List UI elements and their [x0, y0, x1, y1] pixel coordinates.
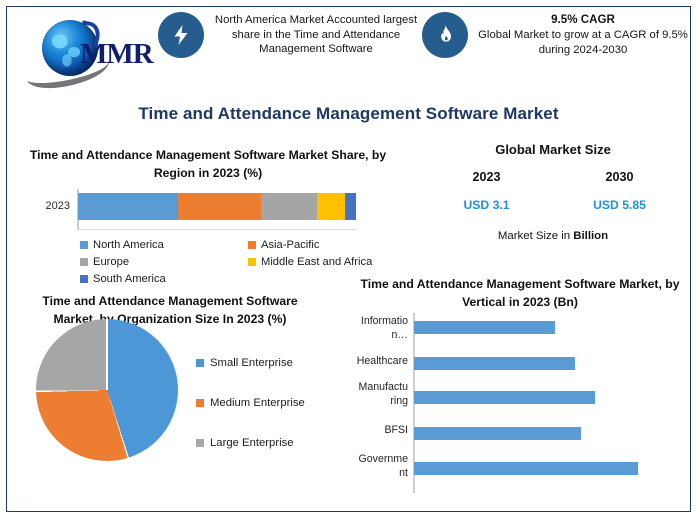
region-segment-middle-east-africa	[317, 193, 345, 220]
legend-swatch	[248, 258, 256, 266]
legend-label: Medium Enterprise	[210, 397, 305, 409]
value-2030: USD 5.85	[553, 198, 686, 212]
organization-size-chart: Time and Attendance Management Software …	[14, 292, 344, 489]
vertical-chart-plot: Informatio n… Healthcare Manufactu ring	[336, 313, 688, 495]
legend-swatch	[196, 439, 204, 447]
region-segment-asia-pacific	[178, 193, 261, 220]
label-line-2: ring	[336, 395, 408, 408]
label-line-1: Governme	[336, 453, 408, 466]
vertical-label-healthcare: Healthcare	[336, 355, 408, 368]
legend-item-middle-east-africa: Middle East and Africa	[248, 254, 408, 271]
bar-healthcare	[414, 357, 575, 370]
header-highlight-1: North America Market Accounted largest s…	[158, 12, 418, 58]
legend-label: Middle East and Africa	[261, 256, 372, 268]
global-market-size-panel: Global Market Size 2023 2030 USD 3.1 USD…	[420, 142, 686, 242]
legend-swatch	[80, 241, 88, 249]
region-segment-south-america	[345, 193, 356, 220]
vertical-label-government: Governme nt	[336, 453, 408, 479]
vertical-label-manufacturing: Manufactu ring	[336, 381, 408, 407]
legend-swatch	[196, 399, 204, 407]
infographic-root: MMR North America Market Accounted large…	[0, 0, 697, 518]
region-axis-label: 2023	[18, 200, 70, 212]
vertical-row-healthcare: Healthcare	[336, 351, 688, 385]
unit-note-value: Billion	[573, 230, 608, 242]
header-highlight-2-text: 9.5% CAGR Global Market to grow at a CAG…	[478, 12, 688, 58]
legend-item-south-america: South America	[80, 271, 248, 288]
pie-chart-plot: Small Enterprise Medium Enterprise Large…	[14, 329, 344, 489]
vertical-row-government: Governme nt	[336, 456, 688, 490]
legend-swatch	[80, 258, 88, 266]
label-line-2: nt	[336, 467, 408, 480]
year-2030-label: 2030	[553, 170, 686, 184]
cagr-description: Global Market to grow at a CAGR of 9.5% …	[478, 29, 688, 56]
legend-item-large-enterprise: Large Enterprise	[196, 423, 305, 463]
legend-item-small-enterprise: Small Enterprise	[196, 343, 305, 383]
label-line-1: Informatio	[336, 315, 408, 328]
brand-name: MMR	[80, 38, 153, 71]
region-chart-plot: 2023	[18, 189, 410, 231]
page-title: Time and Attendance Management Software …	[0, 104, 697, 124]
vertical-label-information: Informatio n…	[336, 315, 408, 341]
bar-manufacturing	[414, 391, 595, 404]
year-2023-label: 2023	[420, 170, 553, 184]
legend-label: Europe	[93, 256, 129, 268]
legend-swatch	[196, 359, 204, 367]
header-highlight-1-text: North America Market Accounted largest s…	[214, 13, 418, 58]
vertical-row-information: Informatio n…	[336, 315, 688, 349]
label-line-1: Manufactu	[336, 381, 408, 394]
brand-logo: MMR	[24, 14, 156, 86]
vertical-row-bfsi: BFSI	[336, 421, 688, 455]
label-line-2: n…	[336, 329, 408, 342]
bar-bfsi	[414, 427, 581, 440]
legend-label: North America	[93, 239, 164, 251]
bar-information	[414, 321, 555, 334]
legend-item-asia-pacific: Asia-Pacific	[248, 237, 408, 254]
unit-note-prefix: Market Size in	[498, 230, 573, 242]
cagr-headline: 9.5% CAGR	[478, 12, 688, 27]
region-stacked-bar	[78, 193, 356, 220]
label-line-1: BFSI	[336, 424, 408, 437]
legend-label: Large Enterprise	[210, 437, 294, 449]
global-market-size-title: Global Market Size	[420, 142, 686, 157]
region-segment-north-america	[78, 193, 178, 220]
global-market-size-values: USD 3.1 USD 5.85	[420, 198, 686, 212]
legend-label: Small Enterprise	[210, 357, 293, 369]
global-market-size-years: 2023 2030	[420, 170, 686, 184]
legend-item-north-america: North America	[80, 237, 248, 254]
pie-seam	[106, 319, 108, 390]
legend-item-medium-enterprise: Medium Enterprise	[196, 383, 305, 423]
header: MMR North America Market Accounted large…	[8, 8, 689, 94]
region-baseline	[77, 229, 357, 230]
pie-chart-title: Time and Attendance Management Software …	[20, 292, 320, 329]
value-2023: USD 3.1	[420, 198, 553, 212]
header-highlight-2: 9.5% CAGR Global Market to grow at a CAG…	[422, 12, 690, 58]
label-line-1: Healthcare	[336, 355, 408, 368]
bar-government	[414, 462, 638, 475]
pie-legend: Small Enterprise Medium Enterprise Large…	[196, 343, 305, 463]
by-vertical-chart: Time and Attendance Management Software …	[336, 276, 688, 495]
vertical-row-manufacturing: Manufactu ring	[336, 385, 688, 419]
market-size-unit-note: Market Size in Billion	[420, 230, 686, 242]
legend-swatch	[80, 275, 88, 283]
legend-label: Asia-Pacific	[261, 239, 319, 251]
region-share-chart: Time and Attendance Management Software …	[18, 146, 410, 288]
lightning-bolt-icon	[158, 12, 204, 58]
legend-label: South America	[93, 273, 166, 285]
legend-swatch	[248, 241, 256, 249]
flame-icon	[422, 12, 468, 58]
legend-item-europe: Europe	[80, 254, 248, 271]
region-chart-title: Time and Attendance Management Software …	[28, 146, 388, 183]
vertical-label-bfsi: BFSI	[336, 424, 408, 437]
region-segment-europe	[261, 193, 317, 220]
vertical-chart-title: Time and Attendance Management Software …	[360, 276, 680, 311]
